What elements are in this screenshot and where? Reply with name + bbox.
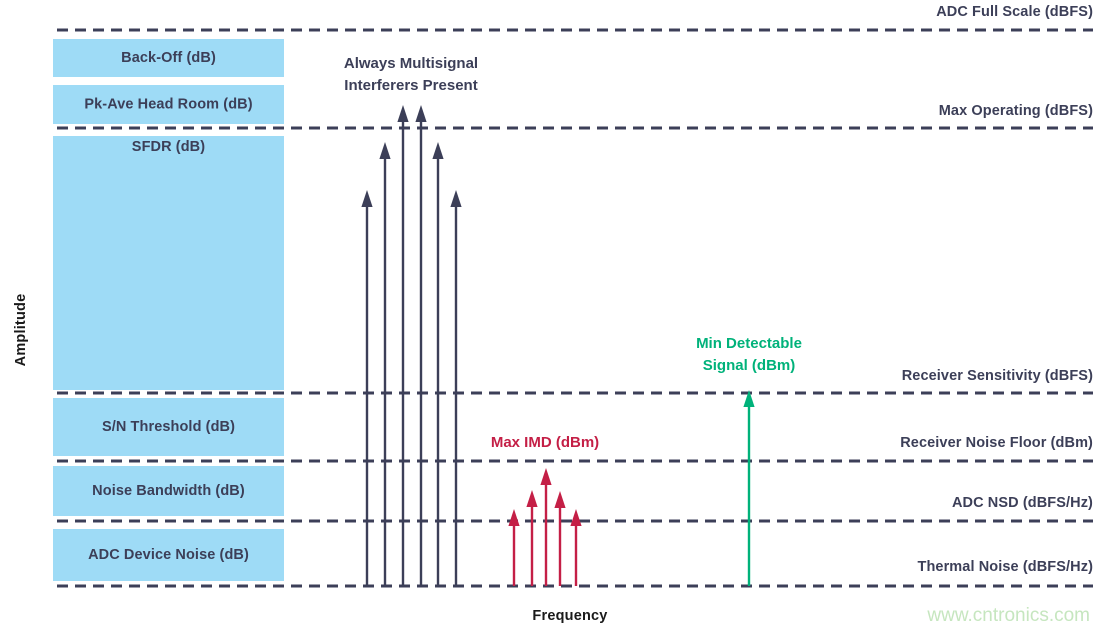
band-label: SFDR (dB) bbox=[132, 139, 205, 155]
band-group: ADC Device Noise (dB) bbox=[53, 529, 284, 581]
reference-line-group: ADC Full Scale (dBFS) bbox=[57, 4, 1093, 30]
arrow-head bbox=[570, 509, 581, 526]
interferers-annotation: Always MultisignalInterferers Present bbox=[344, 55, 478, 94]
annotation-line: Max IMD (dBm) bbox=[491, 434, 599, 451]
arrow-head bbox=[554, 491, 565, 508]
arrow-head bbox=[415, 105, 426, 122]
arrow-group-imd-products bbox=[508, 468, 581, 586]
annotation-line: Min Detectable bbox=[696, 335, 802, 352]
arrow-head bbox=[361, 190, 372, 207]
band-rect bbox=[53, 136, 284, 390]
arrow-head bbox=[432, 142, 443, 159]
band-label: Back-Off (dB) bbox=[121, 50, 216, 66]
diagram-canvas: Back-Off (dB)Pk-Ave Head Room (dB)SFDR (… bbox=[0, 0, 1105, 632]
band-group: Back-Off (dB) bbox=[53, 39, 284, 77]
max-imd-annotation: Max IMD (dBm) bbox=[491, 434, 599, 451]
reference-line-label: Receiver Sensitivity (dBFS) bbox=[902, 368, 1093, 384]
x-axis-label: Frequency bbox=[532, 608, 607, 624]
band-label: Noise Bandwidth (dB) bbox=[92, 483, 245, 499]
arrow-head bbox=[379, 142, 390, 159]
annotation-line: Signal (dBm) bbox=[703, 357, 796, 374]
annotation-line: Interferers Present bbox=[344, 77, 477, 94]
band-group: Noise Bandwidth (dB) bbox=[53, 466, 284, 516]
min-detectable-signal-annotation: Min DetectableSignal (dBm) bbox=[696, 335, 802, 374]
band-group: S/N Threshold (dB) bbox=[53, 398, 284, 456]
adc-dynamic-range-diagram: Back-Off (dB)Pk-Ave Head Room (dB)SFDR (… bbox=[0, 0, 1105, 632]
band-label: ADC Device Noise (dB) bbox=[88, 547, 249, 563]
reference-line-label: ADC Full Scale (dBFS) bbox=[936, 4, 1093, 20]
reference-line-label: Receiver Noise Floor (dBm) bbox=[900, 435, 1093, 451]
band-label: Pk-Ave Head Room (dB) bbox=[84, 96, 252, 112]
reference-line-label: Thermal Noise (dBFS/Hz) bbox=[917, 559, 1093, 575]
reference-line-label: Max Operating (dBFS) bbox=[939, 103, 1093, 119]
arrow-head bbox=[540, 468, 551, 485]
band-group: Pk-Ave Head Room (dB) bbox=[53, 85, 284, 124]
band-group: SFDR (dB) bbox=[53, 136, 284, 390]
arrow-head bbox=[508, 509, 519, 526]
y-axis-label: Amplitude bbox=[13, 294, 29, 367]
amplitude-budget-bands: Back-Off (dB)Pk-Ave Head Room (dB)SFDR (… bbox=[53, 39, 284, 581]
arrow-group-desired-signal bbox=[743, 390, 754, 586]
arrow-head bbox=[397, 105, 408, 122]
arrow-group-interferers bbox=[361, 105, 461, 586]
arrow-head bbox=[450, 190, 461, 207]
band-label: S/N Threshold (dB) bbox=[102, 419, 235, 435]
reference-line-label: ADC NSD (dBFS/Hz) bbox=[952, 495, 1093, 511]
arrow-head bbox=[526, 490, 537, 507]
annotation-line: Always Multisignal bbox=[344, 55, 478, 72]
watermark-text: www.cntronics.com bbox=[926, 605, 1090, 626]
